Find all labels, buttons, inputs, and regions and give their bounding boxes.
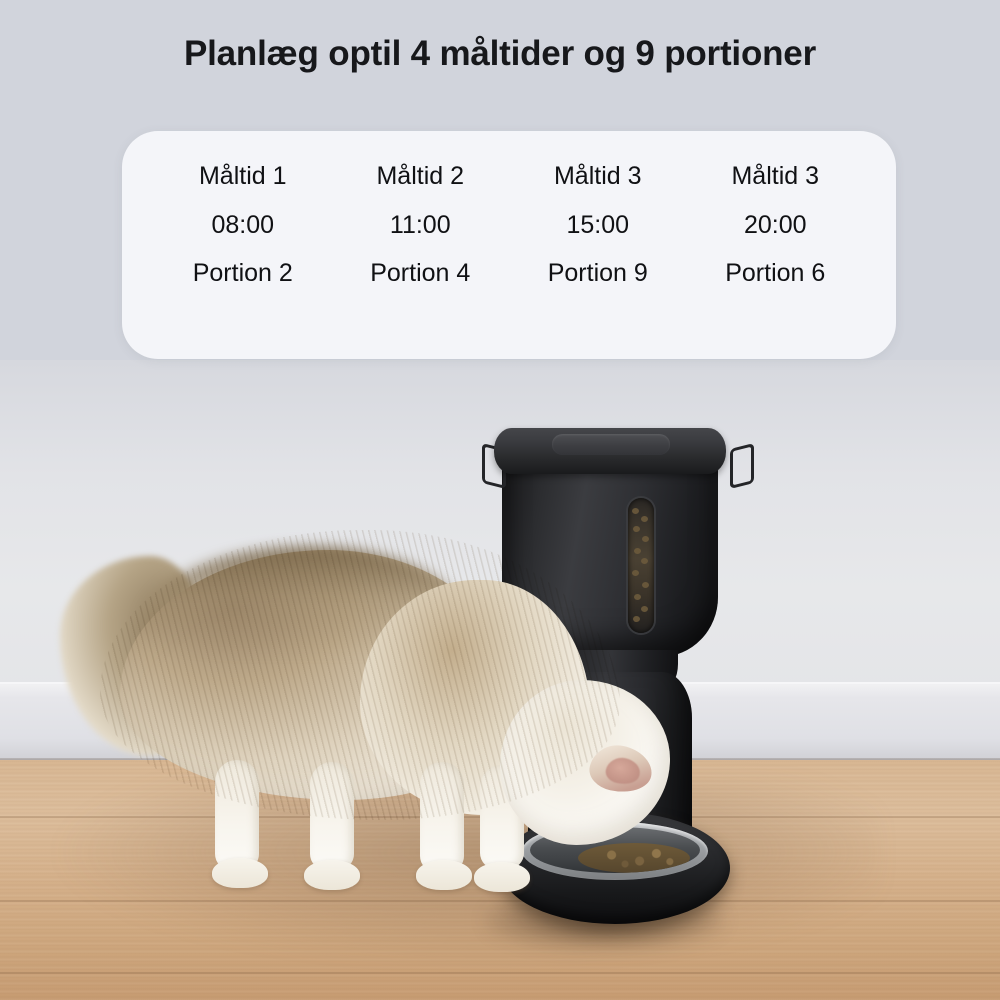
meal-time-2: 11:00 — [332, 212, 510, 240]
cat-paw — [416, 860, 472, 890]
schedule-grid: Måltid 1 Måltid 2 Måltid 3 Måltid 3 08:0… — [154, 163, 864, 288]
meal-portion-2: Portion 4 — [332, 260, 510, 288]
meal-time-1: 08:00 — [154, 212, 332, 240]
schedule-card: Måltid 1 Måltid 2 Måltid 3 Måltid 3 08:0… — [122, 131, 896, 359]
cat-paw — [304, 860, 360, 890]
cat-leg — [420, 762, 464, 872]
cat — [60, 510, 700, 960]
cat-leg — [215, 760, 259, 870]
cat-paw — [212, 858, 268, 888]
product-photo: aws — [0, 360, 1000, 1000]
meal-label-4: Måltid 3 — [687, 163, 865, 191]
meal-portion-3: Portion 9 — [509, 260, 687, 288]
meal-label-3: Måltid 3 — [509, 163, 687, 191]
meal-label-1: Måltid 1 — [154, 163, 332, 191]
page-title: Planlæg optil 4 måltider og 9 portioner — [0, 34, 1000, 74]
hopper-lid — [494, 428, 726, 474]
meal-time-3: 15:00 — [509, 212, 687, 240]
meal-portion-1: Portion 2 — [154, 260, 332, 288]
lid-center-panel — [552, 434, 670, 455]
meal-label-2: Måltid 2 — [332, 163, 510, 191]
cat-leg — [310, 762, 354, 870]
meal-portion-4: Portion 6 — [687, 260, 865, 288]
lid-clip-right-icon — [730, 443, 754, 489]
floor-plank-seam — [0, 972, 1000, 974]
promo-banner: aws — [0, 0, 1000, 1000]
cat-paw — [474, 862, 530, 892]
meal-time-4: 20:00 — [687, 212, 865, 240]
